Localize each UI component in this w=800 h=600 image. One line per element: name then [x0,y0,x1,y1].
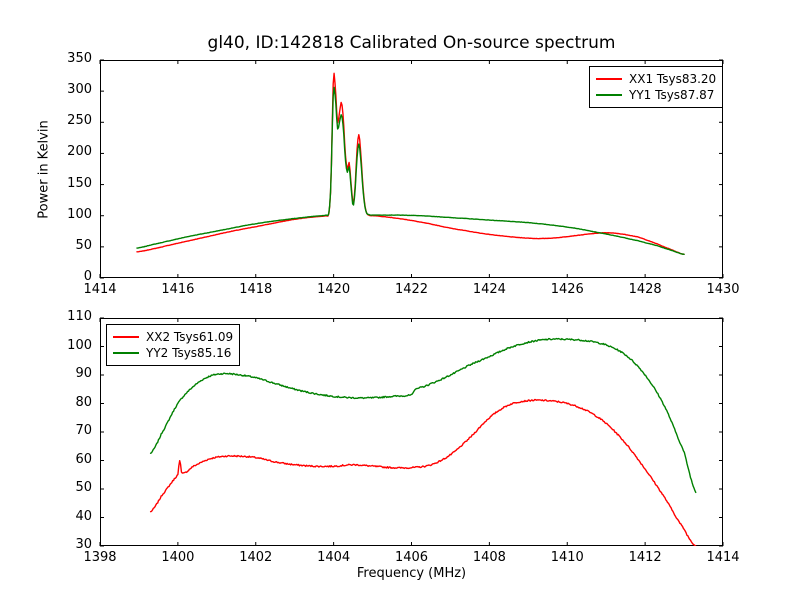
legend-item: YY2 Tsys85.16 [113,345,233,361]
x-tick-label: 1414 [693,550,753,565]
y-tick-label: 110 [38,309,92,324]
y-tick-label: 100 [38,338,92,353]
y-tick-label: 80 [38,395,92,410]
y-tick-label: 60 [38,452,92,467]
x-tick-label: 1400 [148,550,208,565]
legend-line-swatch-green [113,352,139,354]
matplotlib-figure: gl40, ID:142818 Calibrated On-source spe… [0,0,800,600]
y-tick-label: 40 [38,509,92,524]
x-tick-label: 1398 [70,550,130,565]
legend-item: XX2 Tsys61.09 [113,329,233,345]
bottom-panel-plot-area [0,0,800,600]
x-tick-label: 1408 [459,550,519,565]
data-series-line [151,400,696,547]
bottom-panel-xlabel: Frequency (MHz) [100,566,723,581]
bottom-panel-legend: XX2 Tsys61.09 YY2 Tsys85.16 [106,324,240,366]
x-tick-label: 1406 [382,550,442,565]
y-tick-label: 90 [38,366,92,381]
y-tick-label: 70 [38,423,92,438]
x-tick-label: 1410 [537,550,597,565]
x-tick-label: 1404 [304,550,364,565]
x-tick-label: 1412 [615,550,675,565]
legend-line-swatch-red [113,336,139,338]
legend-label: YY2 Tsys85.16 [146,346,231,360]
x-tick-label: 1402 [226,550,286,565]
y-tick-label: 50 [38,480,92,495]
legend-label: XX2 Tsys61.09 [146,330,233,344]
